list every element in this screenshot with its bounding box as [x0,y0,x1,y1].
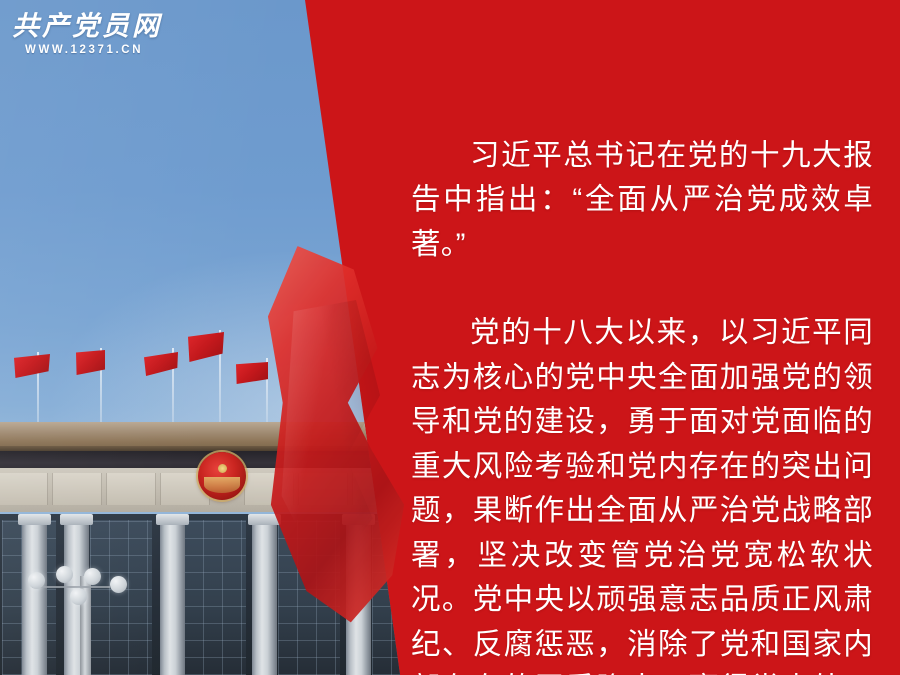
paragraph-quote: 习近平总书记在党的十九大报告中指出：“全面从严治党成效卓著。” [411,134,873,268]
column-capital [18,514,51,525]
logo-title: 共产党员网 [12,12,162,41]
frieze-panel [0,473,48,505]
street-lamp-head [18,566,153,614]
national-emblem-icon [198,452,246,500]
building-window [184,520,246,675]
lamp-globe [56,566,73,583]
lamp-arm [32,586,110,588]
lamp-globe [70,588,87,605]
poster-canvas: 共产党员网 WWW.12371.CN 习近平总书记在党的十九大报告中指出：“全面… [0,0,900,675]
building-column [252,514,277,675]
lamp-globe [84,568,101,585]
column-capital [60,514,93,525]
lamp-globe [28,572,45,589]
column-capital [156,514,189,525]
logo-url: WWW.12371.CN [25,44,162,56]
site-logo[interactable]: 共产党员网 WWW.12371.CN [12,12,162,56]
paragraph-body: 党的十八大以来，以习近平同志为核心的党中央全面加强党的领导和党的建设，勇于面对党… [411,311,873,675]
frieze-panel [106,473,156,505]
lamp-globe [110,576,127,593]
article-copy: 习近平总书记在党的十九大报告中指出：“全面从严治党成效卓著。” 党的十八大以来，… [411,104,873,675]
building-column [160,514,185,675]
frieze-panel [52,473,102,505]
